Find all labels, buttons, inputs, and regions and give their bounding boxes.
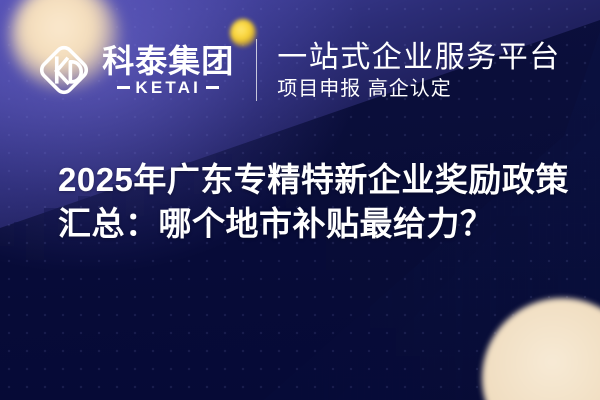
dash-right-icon — [206, 86, 219, 89]
promo-banner: 科泰集团 KETAI 一站式企业服务平台 项目申报 高企认定 2025年广东专精… — [0, 0, 600, 400]
page-title-line-2: 汇总：哪个地市补贴最给力？ — [58, 202, 568, 246]
tagline-main: 一站式企业服务平台 — [277, 42, 561, 74]
brand-logo[interactable]: 科泰集团 KETAI — [35, 41, 234, 99]
brand-wordmark: 科泰集团 KETAI — [102, 45, 234, 96]
ketai-diamond-logo-icon — [35, 41, 93, 99]
brand-name-en: KETAI — [135, 79, 201, 96]
brand-tagline: 一站式企业服务平台 项目申报 高企认定 — [277, 40, 561, 100]
page-title-line-1: 2025年广东专精特新企业奖励政策 — [58, 158, 568, 202]
dash-left-icon — [117, 86, 130, 89]
brand-name-en-row: KETAI — [102, 79, 234, 96]
brand-name-cn: 科泰集团 — [102, 45, 234, 77]
header-divider — [256, 39, 257, 101]
tagline-sub: 项目申报 高企认定 — [277, 79, 561, 100]
banner-header: 科泰集团 KETAI 一站式企业服务平台 项目申报 高企认定 — [0, 0, 600, 140]
page-title: 2025年广东专精特新企业奖励政策 汇总：哪个地市补贴最给力？ — [58, 158, 568, 246]
